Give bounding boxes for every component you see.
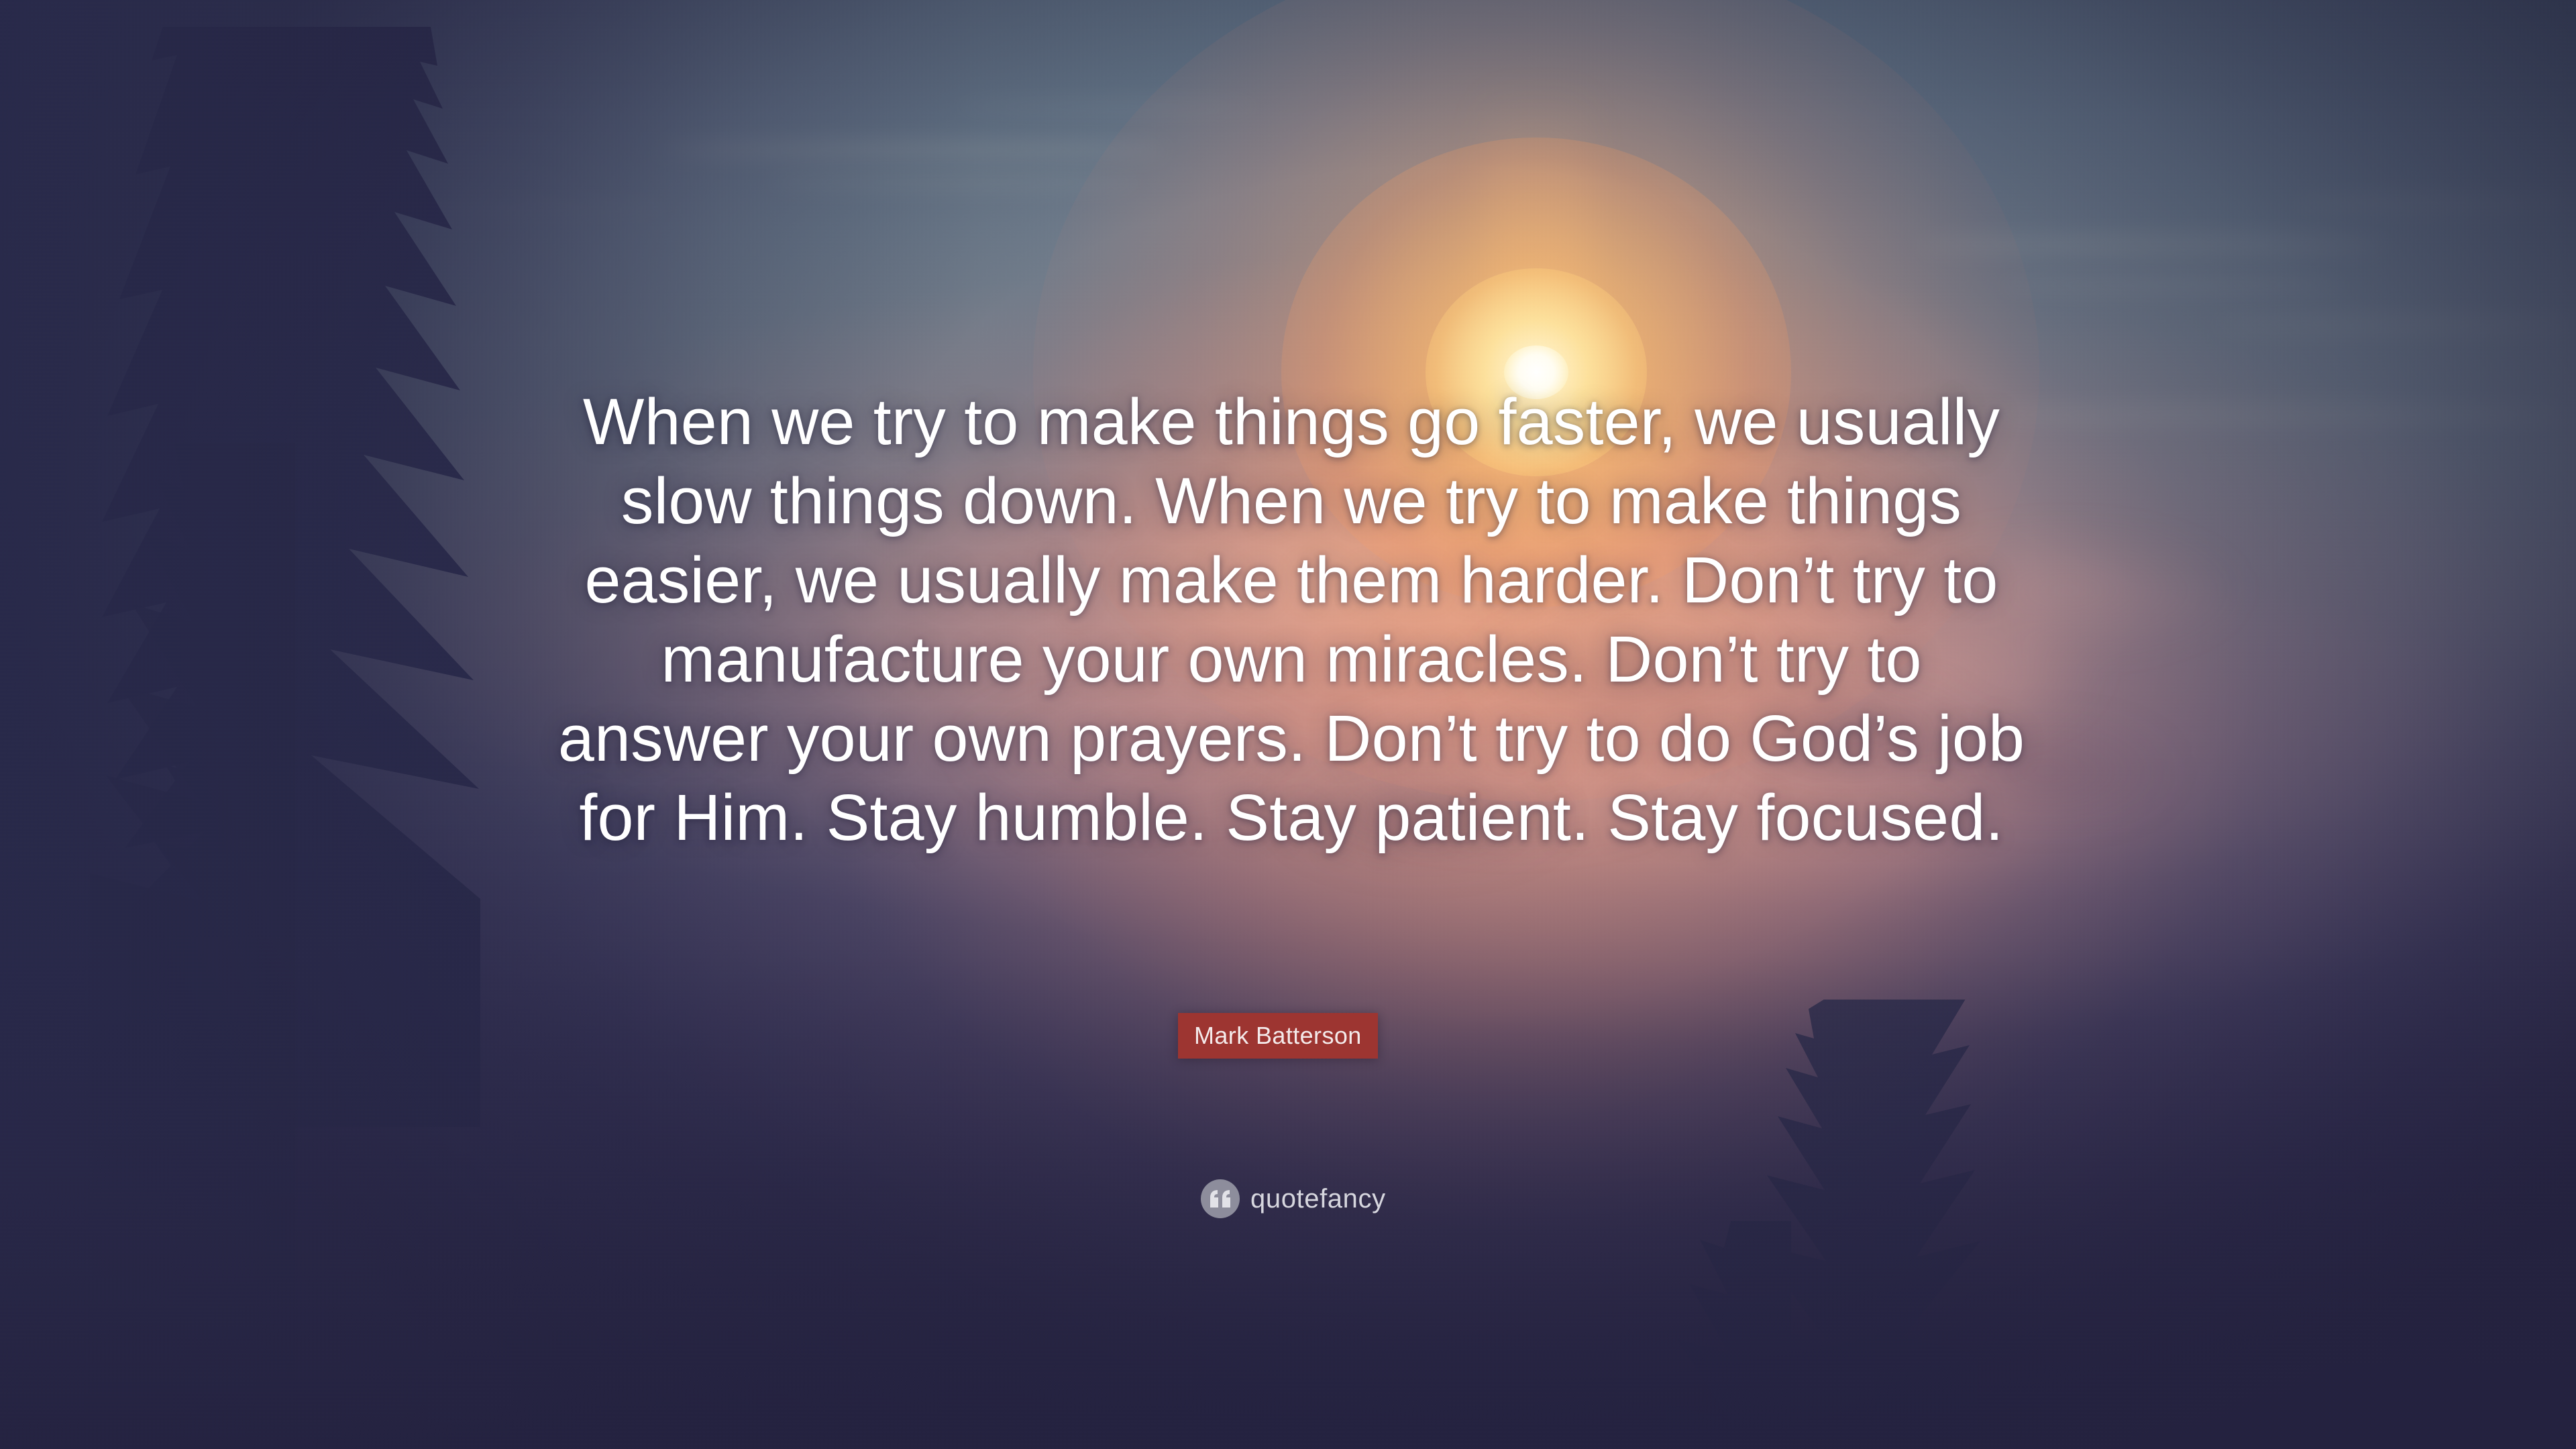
quote-line: slow things down. When we try to make th… — [463, 462, 2120, 541]
quote-text: When we try to make things go faster, we… — [463, 382, 2120, 857]
author-badge[interactable]: Mark Batterson — [1178, 1013, 1378, 1059]
quote-line: When we try to make things go faster, we… — [463, 382, 2120, 462]
quote-mark-icon — [1201, 1179, 1240, 1218]
quote-wallpaper: When we try to make things go faster, we… — [0, 0, 2576, 1449]
quote-line: easier, we usually make them harder. Don… — [463, 541, 2120, 620]
quote-line: manufacture your own miracles. Don’t try… — [463, 620, 2120, 699]
brand-name: quotefancy — [1250, 1184, 1386, 1214]
author-name: Mark Batterson — [1194, 1022, 1362, 1050]
quote-line: for Him. Stay humble. Stay patient. Stay… — [463, 778, 2120, 857]
conifer-tree-far-left-icon — [0, 443, 295, 1449]
quote-line: answer your own prayers. Don’t try to do… — [463, 699, 2120, 778]
quotefancy-logo[interactable]: quotefancy — [1201, 1179, 1386, 1218]
conifer-tree-right-icon — [1650, 1000, 2026, 1449]
